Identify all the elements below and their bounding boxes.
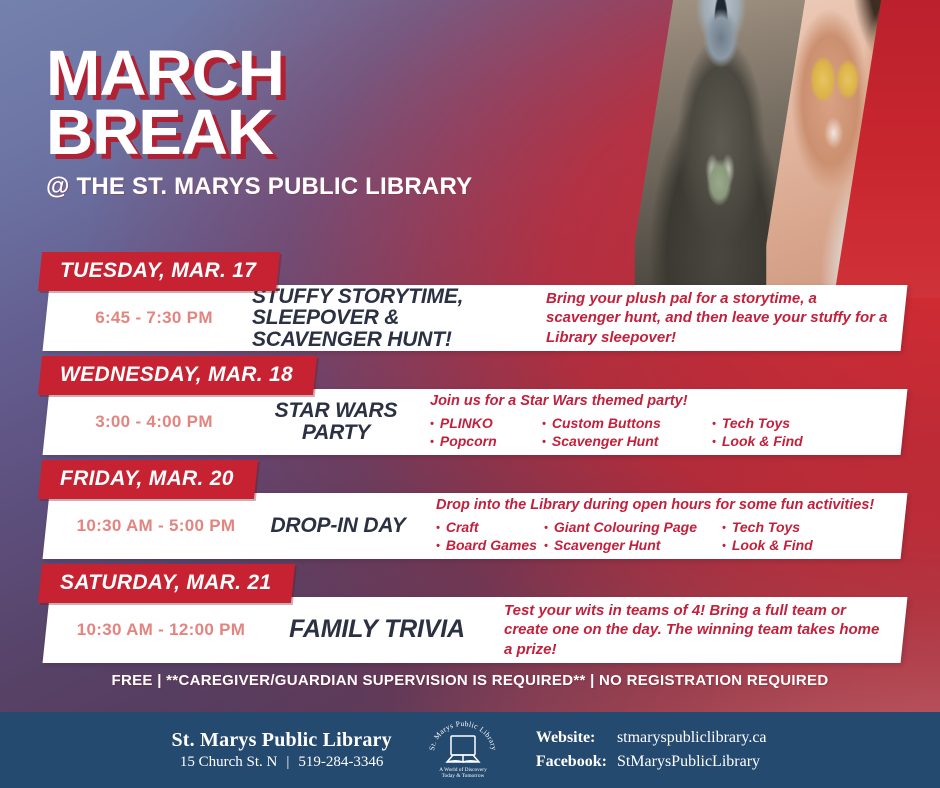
footer-address: 15 Church St. N	[180, 754, 278, 770]
activity-column: Craft Board Games	[436, 519, 544, 555]
event-description: Join us for a Star Wars themed party!	[430, 393, 890, 410]
event-row: WEDNESDAY, MAR. 18 3:00 - 4:00 PM STAR W…	[0, 356, 940, 460]
event-date-label: WEDNESDAY, MAR. 18	[60, 363, 293, 387]
facebook-label: Facebook:	[536, 751, 607, 773]
event-activity-list: PLINKO Popcorn Custom Buttons Scavenger …	[430, 415, 890, 451]
activity-item: Board Games	[436, 537, 544, 555]
photo-collage	[480, 0, 940, 278]
website-row: Website: stmaryspubliclibrary.ca	[536, 727, 767, 749]
activity-item: Giant Colouring Page	[544, 519, 722, 537]
event-title: DROP-IN DAY	[256, 515, 434, 537]
activity-column: PLINKO Popcorn	[430, 415, 542, 451]
poster-footer: St. Marys Public Library 15 Church St. N…	[0, 712, 940, 788]
library-logo: St. Marys Public Library A World of Disc…	[426, 719, 500, 781]
event-card: 10:30 AM - 5:00 PM DROP-IN DAY Drop into…	[43, 493, 908, 559]
event-description: Test your wits in teams of 4! Bring a fu…	[504, 601, 890, 659]
event-title: STAR WARS PARTY	[252, 400, 428, 443]
event-description: Drop into the Library during open hours …	[436, 497, 890, 514]
facebook-row: Facebook: StMarysPublicLibrary	[536, 751, 767, 773]
event-title: FAMILY TRIVIA	[266, 617, 502, 643]
footer-phone: 519-284-3346	[298, 754, 383, 770]
title-line-break: BREAK	[46, 105, 525, 160]
activity-column: Tech Toys Look & Find	[712, 415, 803, 451]
activity-item: Custom Buttons	[542, 415, 712, 433]
event-card: 3:00 - 4:00 PM STAR WARS PARTY Join us f…	[43, 389, 908, 455]
event-card: 6:45 - 7:30 PM STUFFY STORYTIME, SLEEPOV…	[43, 285, 908, 351]
activity-item: Tech Toys	[722, 519, 813, 537]
event-time: 10:30 AM - 5:00 PM	[56, 516, 256, 536]
activity-item: Tech Toys	[712, 415, 803, 433]
activity-column: Giant Colouring Page Scavenger Hunt	[544, 519, 722, 555]
event-date-badge: FRIDAY, MAR. 20	[38, 460, 258, 499]
event-date-label: TUESDAY, MAR. 17	[60, 259, 256, 283]
activity-item: Scavenger Hunt	[542, 433, 712, 451]
event-row: TUESDAY, MAR. 17 6:45 - 7:30 PM STUFFY S…	[0, 252, 940, 356]
poster-header: MARCH BREAK @ THE ST. MARYS PUBLIC LIBRA…	[46, 46, 516, 201]
poster-subtitle: @ THE ST. MARYS PUBLIC LIBRARY	[46, 173, 516, 201]
event-description: Bring your plush pal for a storytime, a …	[546, 289, 890, 347]
activity-item: Scavenger Hunt	[544, 537, 722, 555]
event-title: STUFFY STORYTIME, SLEEPOVER & SCAVENGER …	[252, 286, 544, 351]
svg-text:A World of Discovery: A World of Discovery	[439, 766, 487, 773]
event-time: 10:30 AM - 12:00 PM	[56, 620, 266, 640]
footer-library-info: St. Marys Public Library 15 Church St. N…	[171, 729, 391, 771]
footer-separator: |	[286, 754, 289, 770]
website-label: Website:	[536, 727, 607, 749]
registration-notice: FREE | **CAREGIVER/GUARDIAN SUPERVISION …	[0, 672, 940, 689]
event-activity-list: Craft Board Games Giant Colouring Page S…	[436, 519, 890, 555]
svg-text:St. Marys Public Library: St. Marys Public Library	[427, 719, 499, 751]
footer-contact-links: Website: stmaryspubliclibrary.ca Faceboo…	[534, 725, 769, 774]
event-date-label: SATURDAY, MAR. 21	[60, 571, 271, 595]
title-line-march: MARCH	[46, 46, 525, 101]
activity-item: Popcorn	[430, 433, 542, 451]
event-time: 6:45 - 7:30 PM	[56, 308, 252, 328]
event-row: SATURDAY, MAR. 21 10:30 AM - 12:00 PM FA…	[0, 564, 940, 668]
event-date-badge: SATURDAY, MAR. 21	[38, 564, 295, 603]
footer-address-line: 15 Church St. N|519-284-3346	[171, 754, 391, 771]
footer-library-name: St. Marys Public Library	[171, 729, 391, 752]
activity-column: Custom Buttons Scavenger Hunt	[542, 415, 712, 451]
activity-item: Look & Find	[722, 537, 813, 555]
activity-item: Craft	[436, 519, 544, 537]
march-break-poster: MARCH BREAK @ THE ST. MARYS PUBLIC LIBRA…	[0, 0, 940, 788]
event-time: 3:00 - 4:00 PM	[56, 412, 252, 432]
event-card: 10:30 AM - 12:00 PM FAMILY TRIVIA Test y…	[43, 597, 908, 663]
svg-text:Today & Tomorrow: Today & Tomorrow	[441, 773, 484, 779]
event-row: FRIDAY, MAR. 20 10:30 AM - 5:00 PM DROP-…	[0, 460, 940, 564]
activity-item: Look & Find	[712, 433, 803, 451]
website-value[interactable]: stmaryspubliclibrary.ca	[609, 727, 767, 749]
event-date-badge: TUESDAY, MAR. 17	[38, 252, 280, 291]
activity-item: PLINKO	[430, 415, 542, 433]
facebook-value[interactable]: StMarysPublicLibrary	[609, 751, 767, 773]
events-list: TUESDAY, MAR. 17 6:45 - 7:30 PM STUFFY S…	[0, 252, 940, 668]
activity-column: Tech Toys Look & Find	[722, 519, 813, 555]
event-date-badge: WEDNESDAY, MAR. 18	[38, 356, 317, 395]
event-date-label: FRIDAY, MAR. 20	[60, 467, 234, 491]
